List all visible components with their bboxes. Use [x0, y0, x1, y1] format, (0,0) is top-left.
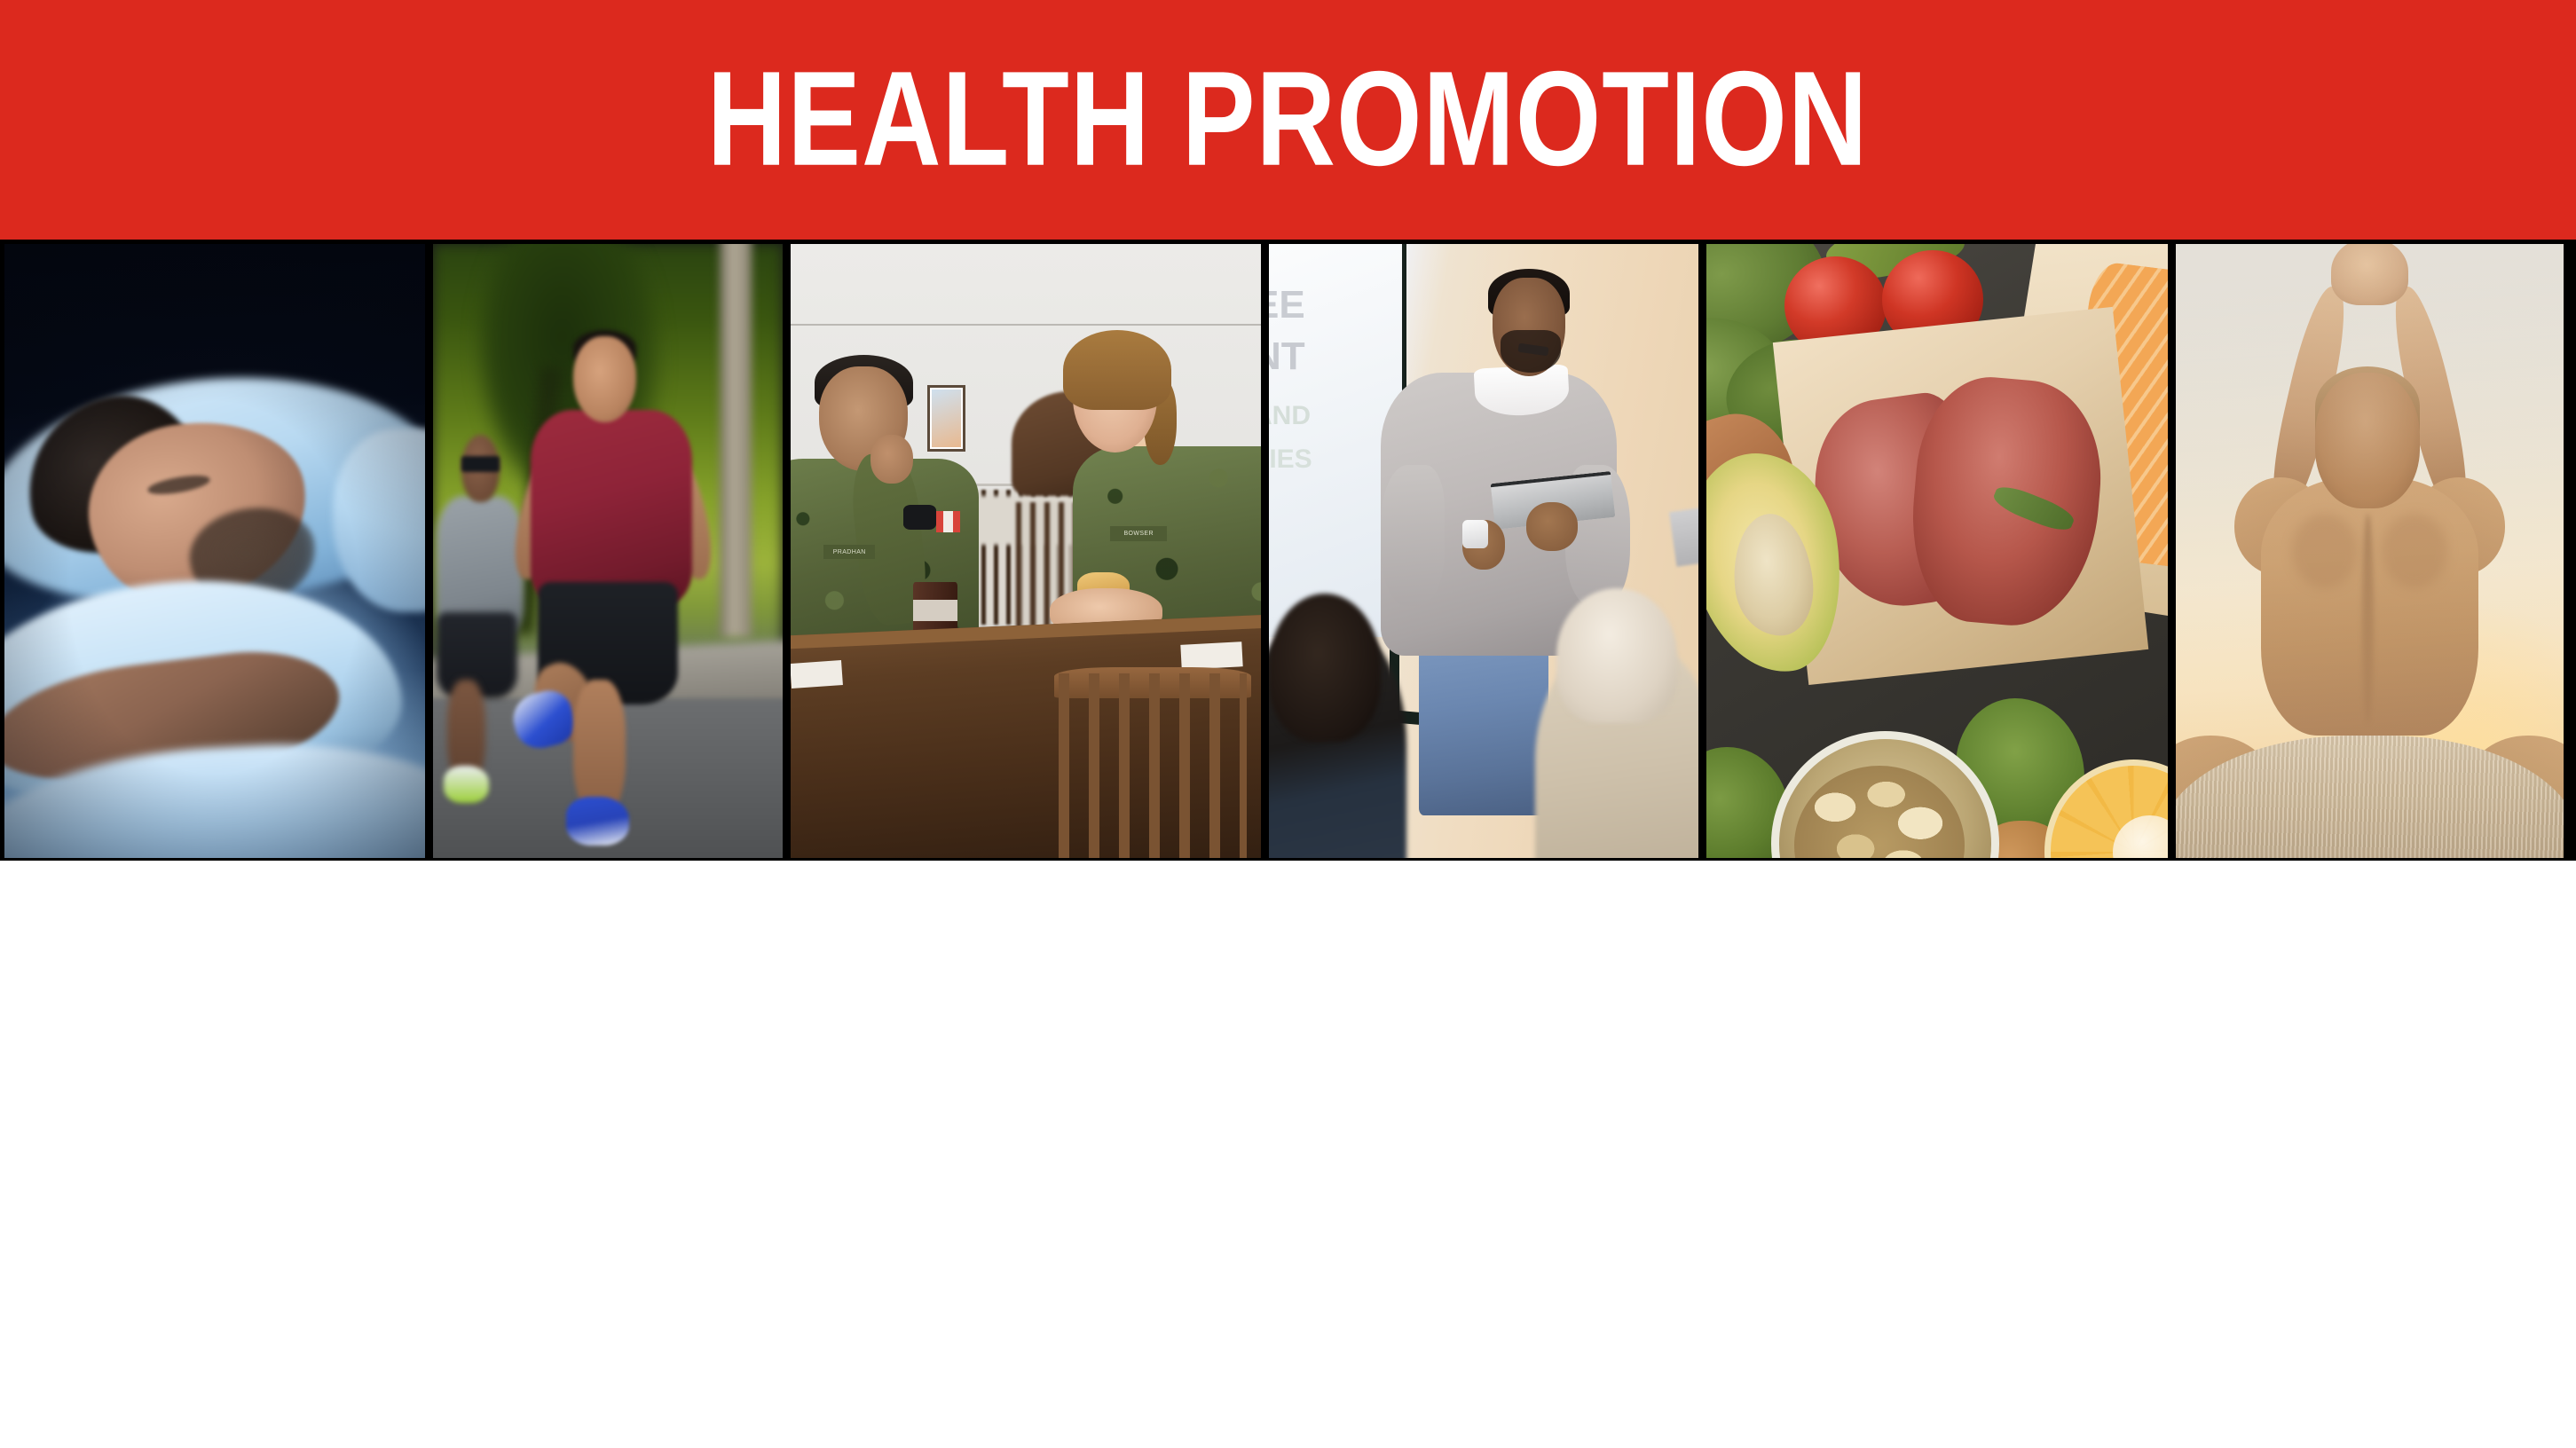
screen-text-line-1: EE [1269, 283, 1305, 327]
runner-front-leg [573, 680, 626, 814]
canadian-flag-patch-icon [936, 511, 960, 532]
screen-text-line-4: TIES [1269, 445, 1312, 475]
photo-panel-healthy-food[interactable] [1706, 244, 2168, 858]
screen-text-line-2: NT [1269, 334, 1305, 379]
wall-seam [791, 324, 1261, 326]
runner-front-shoe [566, 797, 629, 846]
name-tape-left: PRADHAN [823, 545, 875, 559]
sunglasses-shape [461, 456, 500, 472]
mess-hall-photo: PRADHAN BOWSER [791, 244, 1261, 858]
utility-pole-shape [720, 244, 751, 637]
audience-member-hijab-head [1556, 588, 1677, 723]
wristwatch [903, 505, 936, 530]
runner-head [573, 336, 636, 422]
presenter-right-hand [1526, 502, 1578, 551]
wall-picture-left [927, 385, 965, 452]
presenter-left-arm [1381, 465, 1446, 606]
runner-torso [531, 410, 691, 606]
napkin-right [1180, 641, 1242, 669]
name-tape-right: BOWSER [1110, 526, 1167, 541]
photo-panel-mess-hall[interactable]: PRADHAN BOWSER [791, 244, 1261, 858]
healthy-food-photo [1706, 244, 2168, 858]
sleep-photo [4, 244, 425, 858]
atmospheric-haze [2176, 244, 2564, 858]
vignette-overlay [4, 244, 425, 858]
member-right-hair [1063, 330, 1171, 410]
member-left-hand [870, 435, 913, 484]
presentation-photo: EE NT AND TIES [1269, 244, 1698, 858]
presentation-clicker [1462, 520, 1488, 547]
photo-panel-presentation[interactable]: EE NT AND TIES [1269, 244, 1698, 858]
photo-panel-yoga[interactable] [2176, 244, 2564, 858]
yoga-photo [2176, 244, 2564, 858]
header-banner: HEALTH PROMOTION [0, 0, 2576, 240]
audience-member-suit-head [1269, 594, 1381, 741]
background-runner-shoe [444, 766, 489, 803]
photo-panel-running[interactable] [433, 244, 783, 858]
foreground-chair [1059, 673, 1247, 858]
presenter-jeans [1419, 631, 1548, 815]
coffee-cup-sleeve [913, 600, 957, 621]
photo-panel-sleep[interactable] [4, 244, 425, 858]
running-photo [433, 244, 783, 858]
napkin-left [791, 660, 843, 689]
screen-text-line-3: AND [1269, 401, 1311, 431]
page-title: HEALTH PROMOTION [707, 51, 1869, 186]
photo-strip: PRADHAN BOWSER EE NT AND TIES [0, 240, 2576, 861]
